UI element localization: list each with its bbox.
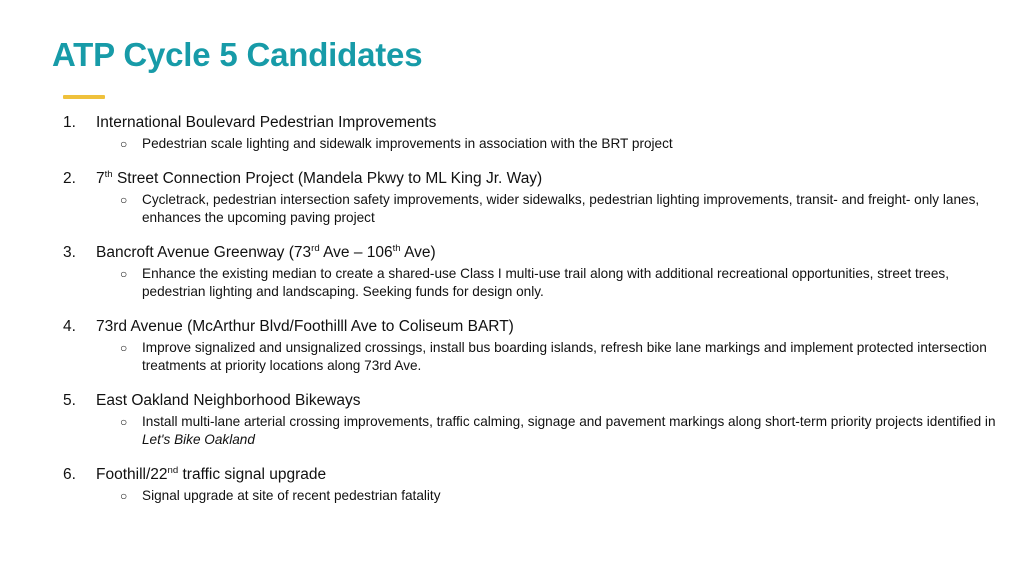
- list-item-title: 2.7th Street Connection Project (Mandela…: [60, 168, 1008, 189]
- list-item-title-text-cont: traffic signal upgrade: [178, 466, 326, 483]
- sub-bullet-text: Improve signalized and unsignalized cros…: [142, 340, 987, 374]
- list-item-title-superscript-2: th: [393, 242, 401, 253]
- list-item-title-text: Foothill/22: [96, 466, 168, 483]
- sub-bullet-group: ○Pedestrian scale lighting and sidewalk …: [60, 135, 1008, 154]
- circle-hollow-icon: ○: [120, 191, 127, 210]
- list-item-title-superscript: th: [105, 168, 113, 179]
- list-item-title-superscript: rd: [311, 242, 320, 253]
- list-item-title-text: Bancroft Avenue Greenway (73: [96, 244, 311, 261]
- sub-bullet-text: Enhance the existing median to create a …: [142, 266, 949, 300]
- list-item-title: 3.Bancroft Avenue Greenway (73rd Ave – 1…: [60, 242, 1008, 263]
- list-item-number: 3.: [63, 242, 89, 263]
- list-item: 6.Foothill/22nd traffic signal upgrade ○…: [60, 464, 1008, 506]
- sub-bullet-group: ○Enhance the existing median to create a…: [60, 265, 1008, 302]
- list-item-title: 1.International Boulevard Pedestrian Imp…: [60, 112, 1008, 133]
- list-item-title-superscript: nd: [168, 464, 179, 475]
- sub-bullet-group: ○Cycletrack, pedestrian intersection saf…: [60, 191, 1008, 228]
- list-item-title-text: International Boulevard Pedestrian Impro…: [96, 114, 436, 131]
- list-item: 4.73rd Avenue (McArthur Blvd/Foothilll A…: [60, 316, 1008, 376]
- sub-bullet: ○Cycletrack, pedestrian intersection saf…: [60, 191, 1008, 228]
- list-item-title: 6.Foothill/22nd traffic signal upgrade: [60, 464, 1008, 485]
- list-item-title-text: East Oakland Neighborhood Bikeways: [96, 392, 361, 409]
- circle-hollow-icon: ○: [120, 135, 127, 154]
- list-item: 1.International Boulevard Pedestrian Imp…: [60, 112, 1008, 154]
- sub-bullet-text: Pedestrian scale lighting and sidewalk i…: [142, 136, 673, 151]
- sub-bullet-group: ○Signal upgrade at site of recent pedest…: [60, 487, 1008, 506]
- title-accent-rule: [63, 95, 105, 99]
- sub-bullet: ○Pedestrian scale lighting and sidewalk …: [60, 135, 1008, 154]
- sub-bullet: ○Signal upgrade at site of recent pedest…: [60, 487, 1008, 506]
- list-item-title-text-cont: Ave): [401, 244, 436, 261]
- list-item-title-text: 73rd Avenue (McArthur Blvd/Foothilll Ave…: [96, 318, 514, 335]
- sub-bullet-text: Install multi-lane arterial crossing imp…: [142, 414, 996, 429]
- list-item: 2.7th Street Connection Project (Mandela…: [60, 168, 1008, 228]
- list-item-title-text: 7: [96, 170, 105, 187]
- sub-bullet: ○Improve signalized and unsignalized cro…: [60, 339, 1008, 376]
- candidate-list: 1.International Boulevard Pedestrian Imp…: [60, 112, 1008, 505]
- list-item-title: 5.East Oakland Neighborhood Bikeways: [60, 390, 1008, 411]
- circle-hollow-icon: ○: [120, 487, 127, 506]
- slide: ATP Cycle 5 Candidates 1.International B…: [0, 0, 1024, 576]
- list-item-number: 6.: [63, 464, 89, 485]
- circle-hollow-icon: ○: [120, 339, 127, 358]
- list-item-number: 5.: [63, 390, 89, 411]
- list-item: 5.East Oakland Neighborhood Bikeways ○In…: [60, 390, 1008, 450]
- list-item-number: 2.: [63, 168, 89, 189]
- sub-bullet-group: ○Improve signalized and unsignalized cro…: [60, 339, 1008, 376]
- sub-bullet-text: Cycletrack, pedestrian intersection safe…: [142, 192, 979, 226]
- circle-hollow-icon: ○: [120, 413, 127, 432]
- list-item-title-text-cont: Street Connection Project (Mandela Pkwy …: [113, 170, 543, 187]
- sub-bullet-group: ○Install multi-lane arterial crossing im…: [60, 413, 1008, 450]
- list-item-title: 4.73rd Avenue (McArthur Blvd/Foothilll A…: [60, 316, 1008, 337]
- circle-hollow-icon: ○: [120, 265, 127, 284]
- list-item-title-text-mid: Ave – 106: [320, 244, 393, 261]
- page-title: ATP Cycle 5 Candidates: [52, 36, 422, 74]
- sub-bullet-text-italic: Let's Bike Oakland: [142, 432, 255, 447]
- list-item: 3.Bancroft Avenue Greenway (73rd Ave – 1…: [60, 242, 1008, 302]
- sub-bullet: ○Enhance the existing median to create a…: [60, 265, 1008, 302]
- list-item-number: 4.: [63, 316, 89, 337]
- list-item-number: 1.: [63, 112, 89, 133]
- sub-bullet: ○Install multi-lane arterial crossing im…: [60, 413, 1008, 450]
- sub-bullet-text: Signal upgrade at site of recent pedestr…: [142, 488, 441, 503]
